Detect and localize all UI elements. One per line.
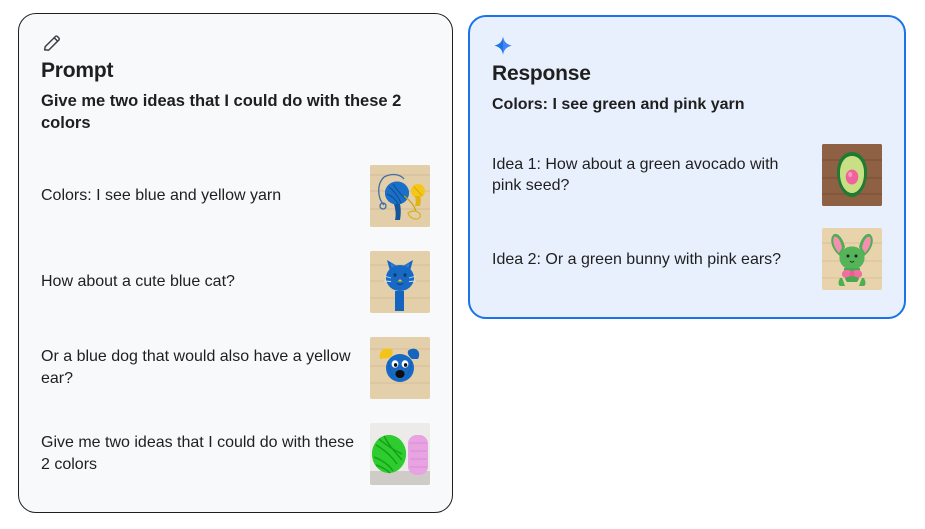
response-row[interactable]: Idea 1: How about a green avocado with p… <box>492 133 882 217</box>
response-card-title: Response <box>492 61 882 86</box>
blue-dog-thumbnail[interactable] <box>370 337 430 399</box>
prompt-row[interactable]: Colors: I see blue and yellow yarn <box>41 153 430 239</box>
pencil-icon <box>41 32 430 56</box>
green-bunny-thumbnail[interactable] <box>822 228 882 290</box>
response-card: Response Colors: I see green and pink ya… <box>468 15 906 319</box>
blue-yellow-yarn-thumbnail[interactable] <box>370 165 430 227</box>
prompt-message-list: Colors: I see blue and yellow yarn <box>41 153 430 497</box>
response-idea-list: Idea 1: How about a green avocado with p… <box>492 133 882 301</box>
prompt-row[interactable]: Give me two ideas that I could do with t… <box>41 411 430 497</box>
prompt-row-text: How about a cute blue cat? <box>41 271 356 292</box>
response-card-subtitle: Colors: I see green and pink yarn <box>492 94 882 115</box>
response-row[interactable]: Idea 2: Or a green bunny with pink ears? <box>492 217 882 301</box>
prompt-row-text: Give me two ideas that I could do with t… <box>41 432 356 475</box>
sparkle-icon <box>492 35 882 59</box>
prompt-row[interactable]: How about a cute blue cat? <box>41 239 430 325</box>
prompt-card-subtitle: Give me two ideas that I could do with t… <box>41 91 430 135</box>
prompt-card: Prompt Give me two ideas that I could do… <box>18 13 453 513</box>
response-row-text: Idea 2: Or a green bunny with pink ears? <box>492 249 808 270</box>
blue-cat-thumbnail[interactable] <box>370 251 430 313</box>
green-pink-yarn-thumbnail[interactable] <box>370 423 430 485</box>
green-avocado-thumbnail[interactable] <box>822 144 882 206</box>
prompt-card-title: Prompt <box>41 58 430 83</box>
prompt-row[interactable]: Or a blue dog that would also have a yel… <box>41 325 430 411</box>
prompt-row-text: Colors: I see blue and yellow yarn <box>41 185 356 206</box>
prompt-row-text: Or a blue dog that would also have a yel… <box>41 346 356 389</box>
response-row-text: Idea 1: How about a green avocado with p… <box>492 154 808 197</box>
